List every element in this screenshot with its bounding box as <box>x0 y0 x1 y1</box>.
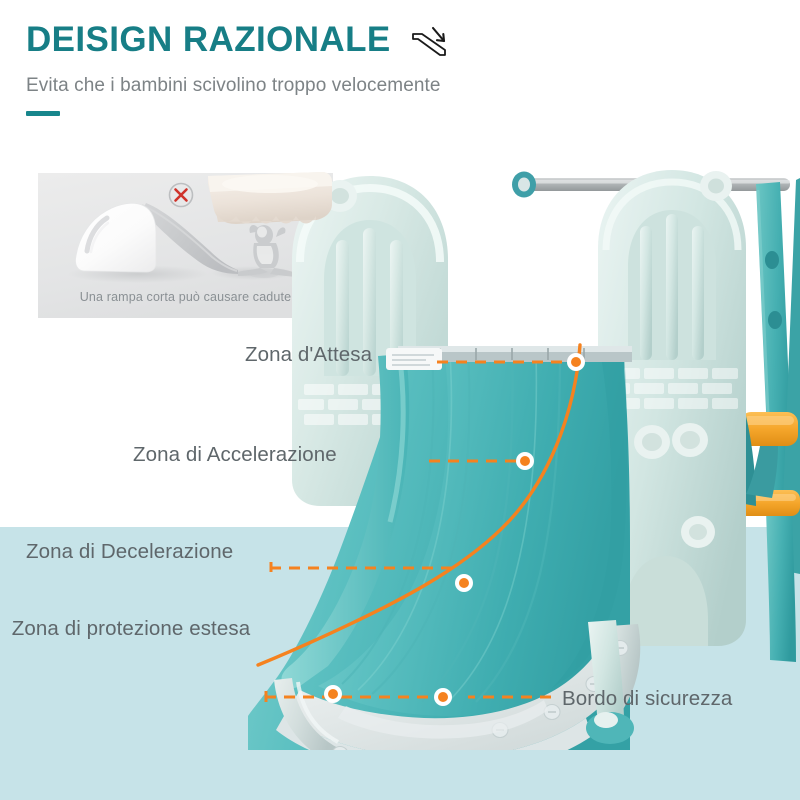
callout-markers <box>324 353 585 706</box>
callout-label-bordo: Bordo di sicurezza <box>562 686 732 711</box>
callout-label-decelerazione: Zona di Decelerazione <box>26 539 233 564</box>
callout-label-attesa: Zona d'Attesa <box>245 342 372 367</box>
infographic-canvas: DEISIGN RAZIONALE Evita che i bambini sc… <box>0 0 800 800</box>
callout-leaders <box>0 0 800 800</box>
callout-label-protezione: Zona di protezione estesa <box>6 616 256 641</box>
callout-label-accelerazione: Zona di Accelerazione <box>133 442 337 467</box>
